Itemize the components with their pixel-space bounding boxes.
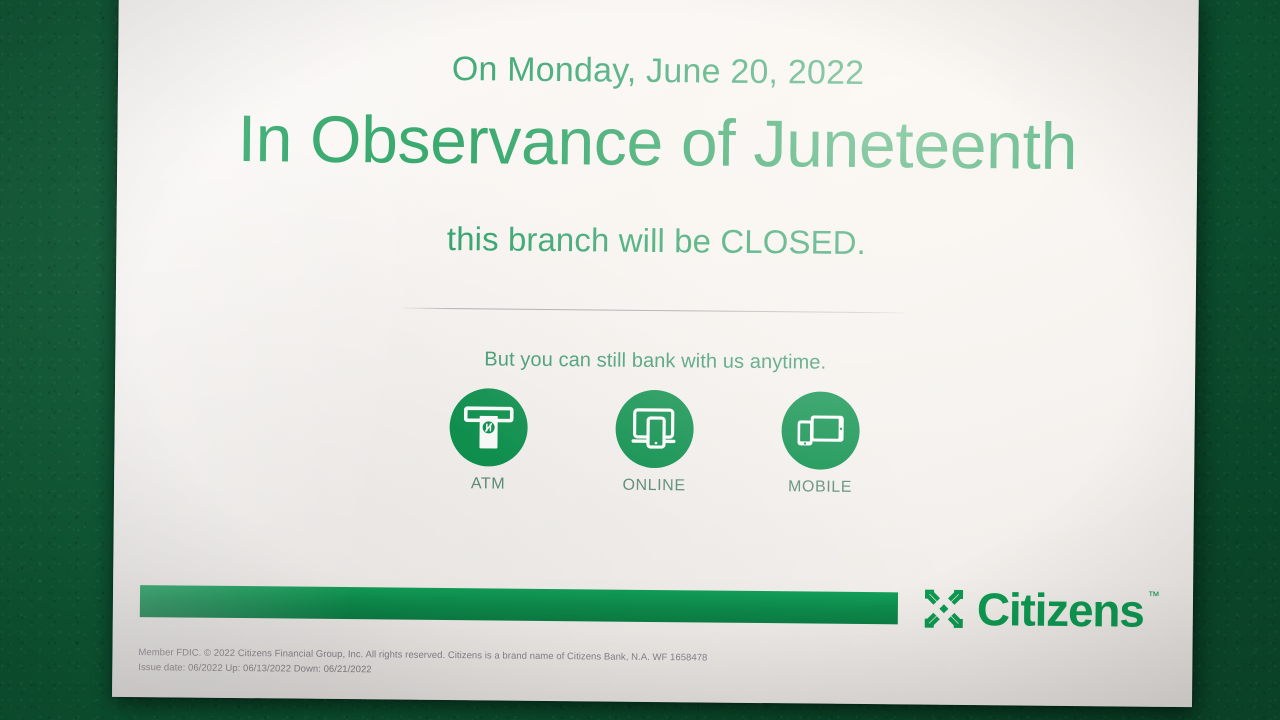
desktop-tablet-icon <box>615 390 694 469</box>
citizens-wordmark-text: Citizens <box>977 583 1144 637</box>
notice-subline: this branch will be CLOSED. <box>116 217 1196 265</box>
channel-label-atm: ATM <box>471 475 506 493</box>
citizens-wordmark: Citizens ™ <box>977 586 1144 634</box>
channel-atm: ATM <box>440 388 537 494</box>
channel-online: ONLINE <box>606 390 703 496</box>
notice-date-line: On Monday, June 20, 2022 <box>118 47 1198 96</box>
green-accent-bar <box>140 585 898 624</box>
phone-tablet-icon <box>781 391 860 470</box>
atm-icon <box>449 388 528 467</box>
channel-label-mobile: MOBILE <box>788 478 852 497</box>
legal-fineprint: Member FDIC. © 2022 Citizens Financial G… <box>138 646 1158 685</box>
citizens-logo: Citizens ™ <box>921 586 1144 634</box>
channel-mobile: MOBILE <box>772 391 869 497</box>
notice-headline: In Observance of Juneteenth <box>117 103 1198 183</box>
citizens-starburst-icon <box>921 586 967 632</box>
photo-scene: On Monday, June 20, 2022 In Observance o… <box>0 0 1280 720</box>
channel-label-online: ONLINE <box>622 477 685 496</box>
horizontal-divider <box>404 308 906 314</box>
printed-notice-sign: On Monday, June 20, 2022 In Observance o… <box>112 0 1199 707</box>
trademark-symbol: ™ <box>1148 590 1160 602</box>
banking-channels-row: ATM ONLIN <box>114 385 1195 500</box>
bank-anytime-text: But you can still bank with us anytime. <box>115 345 1195 378</box>
